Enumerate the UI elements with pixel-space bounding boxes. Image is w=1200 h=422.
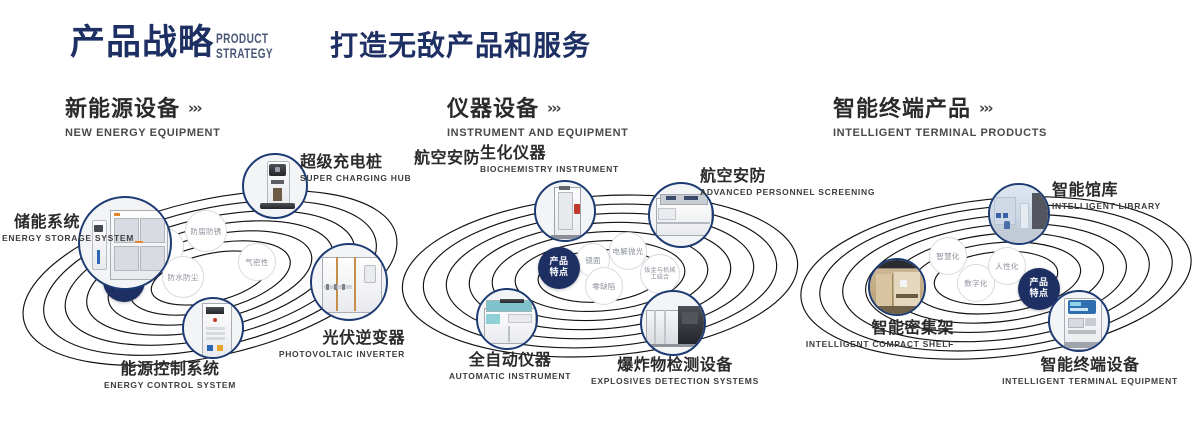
node-energy-control-system[interactable] — [182, 297, 244, 359]
node-photovoltaic-inverter[interactable] — [310, 243, 388, 321]
section-title-en: NEW ENERGY EQUIPMENT — [65, 127, 220, 139]
node-automatic-instrument[interactable] — [476, 288, 538, 350]
node-super-charging-hub[interactable] — [242, 153, 308, 219]
node-label-aviation-security-left: 航空安防 — [414, 148, 480, 167]
cluster-instrument: 镜面 电解抛光 零缺陷 钣金与机械工结合 产品 特点 航空安防 生化仪器 BI — [400, 150, 810, 415]
node-label-intelligent-library: 智能馆库 INTELLIGENT LIBRARY — [1052, 180, 1161, 212]
section-heading-new-energy: 新能源设备››› NEW ENERGY EQUIPMENT — [65, 95, 220, 139]
chevron-right-icon: ››› — [547, 95, 560, 121]
control-cabinet-image — [184, 299, 242, 357]
node-label-automatic-instrument: 全自动仪器 AUTOMATIC INSTRUMENT — [430, 350, 590, 382]
section-title-en: INSTRUMENT AND EQUIPMENT — [447, 127, 628, 139]
node-energy-storage-system[interactable] — [78, 196, 172, 290]
node-intelligent-library[interactable] — [988, 183, 1050, 245]
core-badge-line2: 特点 — [1029, 289, 1048, 300]
node-label-photovoltaic-inverter: 光伏逆变器 PHOTOVOLTAIC INVERTER — [260, 328, 405, 360]
node-intelligent-compact-shelf[interactable] — [868, 258, 926, 316]
chevron-right-icon: ››› — [188, 95, 201, 121]
node-label-super-charging-hub: 超级充电桩 SUPER CHARGING HUB — [300, 152, 411, 184]
section-title-cn: 仪器设备››› — [447, 95, 628, 123]
section-title-en: INTELLIGENT TERMINAL PRODUCTS — [833, 127, 1047, 139]
feature-bubble: 钣金与机械工结合 — [640, 254, 680, 294]
page-title-en: PRODUCT STRATEGY — [216, 31, 273, 61]
core-badge-line1: 产品 — [549, 257, 568, 268]
page-title-cn: 产品战略 — [70, 26, 214, 61]
node-label-biochemistry-instrument: 生化仪器 BIOCHEMISTRY INSTRUMENT — [480, 143, 550, 175]
compact-shelf-image — [870, 260, 924, 314]
library-interior-image — [990, 185, 1048, 243]
charging-pile-image — [244, 155, 306, 217]
section-title-cn: 新能源设备››› — [65, 95, 220, 123]
section-heading-instrument: 仪器设备››› INSTRUMENT AND EQUIPMENT — [447, 95, 628, 139]
node-label-intelligent-terminal-equipment: 智能终端设备 INTELLIGENT TERMINAL EQUIPMENT — [1000, 355, 1180, 387]
node-label-intelligent-compact-shelf: 智能密集架 INTELLIGENT COMPACT SHELF — [794, 318, 954, 350]
feature-bubble: 防腐防锈 — [185, 210, 227, 252]
node-label-explosives-detection-systems: 爆炸物检测设备 EXPLOSIVES DETECTION SYSTEMS — [590, 355, 760, 387]
chevron-right-icon: ››› — [979, 95, 992, 121]
page-title-en-line1: PRODUCT — [216, 31, 273, 46]
cluster-intelligent-terminal: 智慧化 数字化 人性化 产品 特点 智能馆库 INTELLIGE — [800, 150, 1200, 415]
page-slogan: 打造无敌产品和服务 — [330, 32, 591, 60]
inverter-cabinet-image — [312, 245, 386, 319]
product-strategy-infographic: 产品战略 PRODUCT STRATEGY 打造无敌产品和服务 新能源设备›››… — [0, 0, 1200, 422]
page-title-en-line2: STRATEGY — [216, 46, 273, 61]
section-title-cn: 智能终端产品››› — [833, 95, 1047, 123]
automatic-analyzer-image — [478, 290, 536, 348]
node-intelligent-terminal-equipment[interactable] — [1048, 290, 1110, 352]
node-explosives-detection-systems[interactable] — [640, 290, 706, 356]
core-badge-product-features: 产品 特点 — [538, 247, 580, 289]
cluster-new-energy: 户外 防腐防锈 防水防尘 气密性 产品 特点 — [10, 150, 410, 415]
core-badge-line1: 产品 — [1029, 278, 1048, 289]
core-badge-line2: 特点 — [549, 268, 568, 279]
node-label-energy-control-system: 能源控制系统 ENERGY CONTROL SYSTEM — [70, 359, 270, 391]
self-service-kiosk-image — [1050, 292, 1108, 350]
feature-bubble: 零缺陷 — [585, 267, 623, 305]
explosives-detector-image — [642, 292, 704, 354]
feature-bubble: 气密性 — [238, 243, 276, 281]
node-biochemistry-instrument[interactable] — [534, 180, 596, 242]
node-label-energy-storage-system: 储能系统 ENERGY STORAGE SYSTEM — [2, 212, 80, 244]
energy-storage-cabinet-image — [80, 198, 170, 288]
security-gate-image — [536, 182, 594, 240]
section-heading-intelligent-terminal: 智能终端产品››› INTELLIGENT TERMINAL PRODUCTS — [833, 95, 1047, 139]
page-header: 产品战略 PRODUCT STRATEGY 打造无敌产品和服务 — [0, 0, 1200, 90]
